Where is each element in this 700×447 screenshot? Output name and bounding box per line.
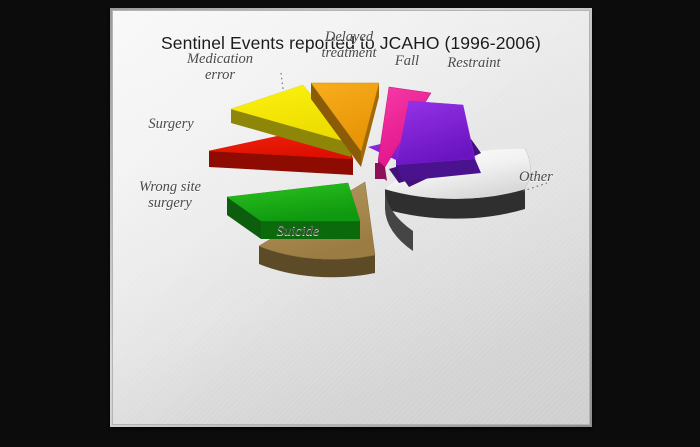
pie-label-restraint: Restraint — [431, 55, 517, 71]
pie-label-surgery: Surgery — [121, 116, 221, 132]
pie-label-wrong-site-surgery: Wrong site surgery — [115, 179, 225, 211]
slide-panel: Sentinel Events reported to JCAHO (1996-… — [112, 10, 590, 425]
pie-label-fall: Fall — [383, 53, 431, 69]
pie-label-suicide: Suicide — [253, 223, 343, 239]
pie-label-other: Other — [519, 169, 579, 185]
slide-canvas: Sentinel Events reported to JCAHO (1996-… — [0, 0, 700, 447]
slide-panel-frame: Sentinel Events reported to JCAHO (1996-… — [110, 8, 592, 427]
pie-label-medication-error: Medication error — [165, 51, 275, 83]
